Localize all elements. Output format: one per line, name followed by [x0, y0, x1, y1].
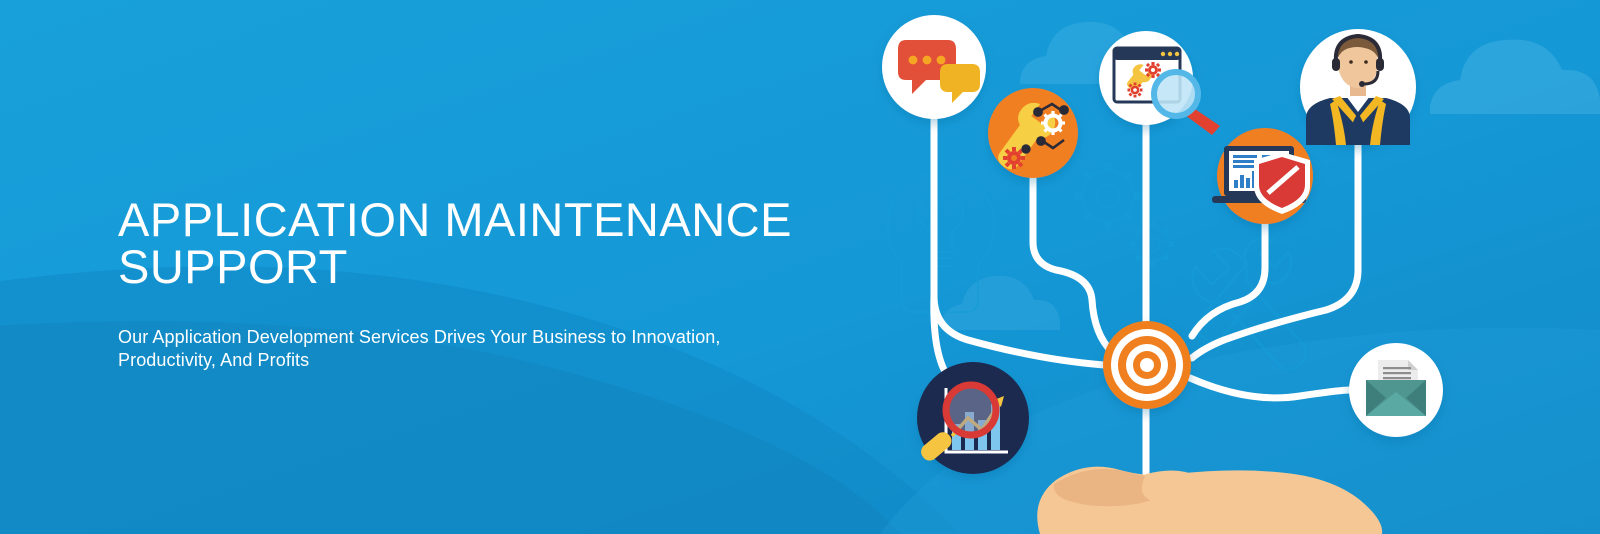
target-icon[interactable] — [1103, 321, 1191, 409]
envelope-shape — [1366, 380, 1426, 416]
connector-envelope — [1190, 378, 1350, 398]
envelope-document-icon[interactable] — [1349, 343, 1443, 437]
application-maintenance-support-banner: APPLICATION MAINTENANCE SUPPORT Our Appl… — [0, 0, 1600, 534]
support-agent-icon[interactable] — [1300, 29, 1416, 145]
banner-subtitle: Our Application Development Services Dri… — [118, 290, 818, 372]
connector-laptop — [1192, 224, 1265, 336]
chat-bubbles-icon[interactable] — [882, 15, 986, 119]
analytics-magnifier-icon[interactable] — [917, 362, 1029, 474]
banner-copy: APPLICATION MAINTENANCE SUPPORT Our Appl… — [118, 196, 818, 372]
target-bullseye — [1140, 358, 1154, 372]
open-hand-icon — [1037, 467, 1382, 534]
laptop-security-icon[interactable] — [1212, 128, 1313, 224]
browser-inspect-icon[interactable] — [1099, 31, 1220, 135]
page-title: APPLICATION MAINTENANCE SUPPORT — [118, 196, 818, 290]
wrench-gears-icon[interactable] — [988, 88, 1078, 178]
connector-wrench — [1033, 178, 1112, 352]
magnifying-glass-icon — [1154, 72, 1220, 135]
